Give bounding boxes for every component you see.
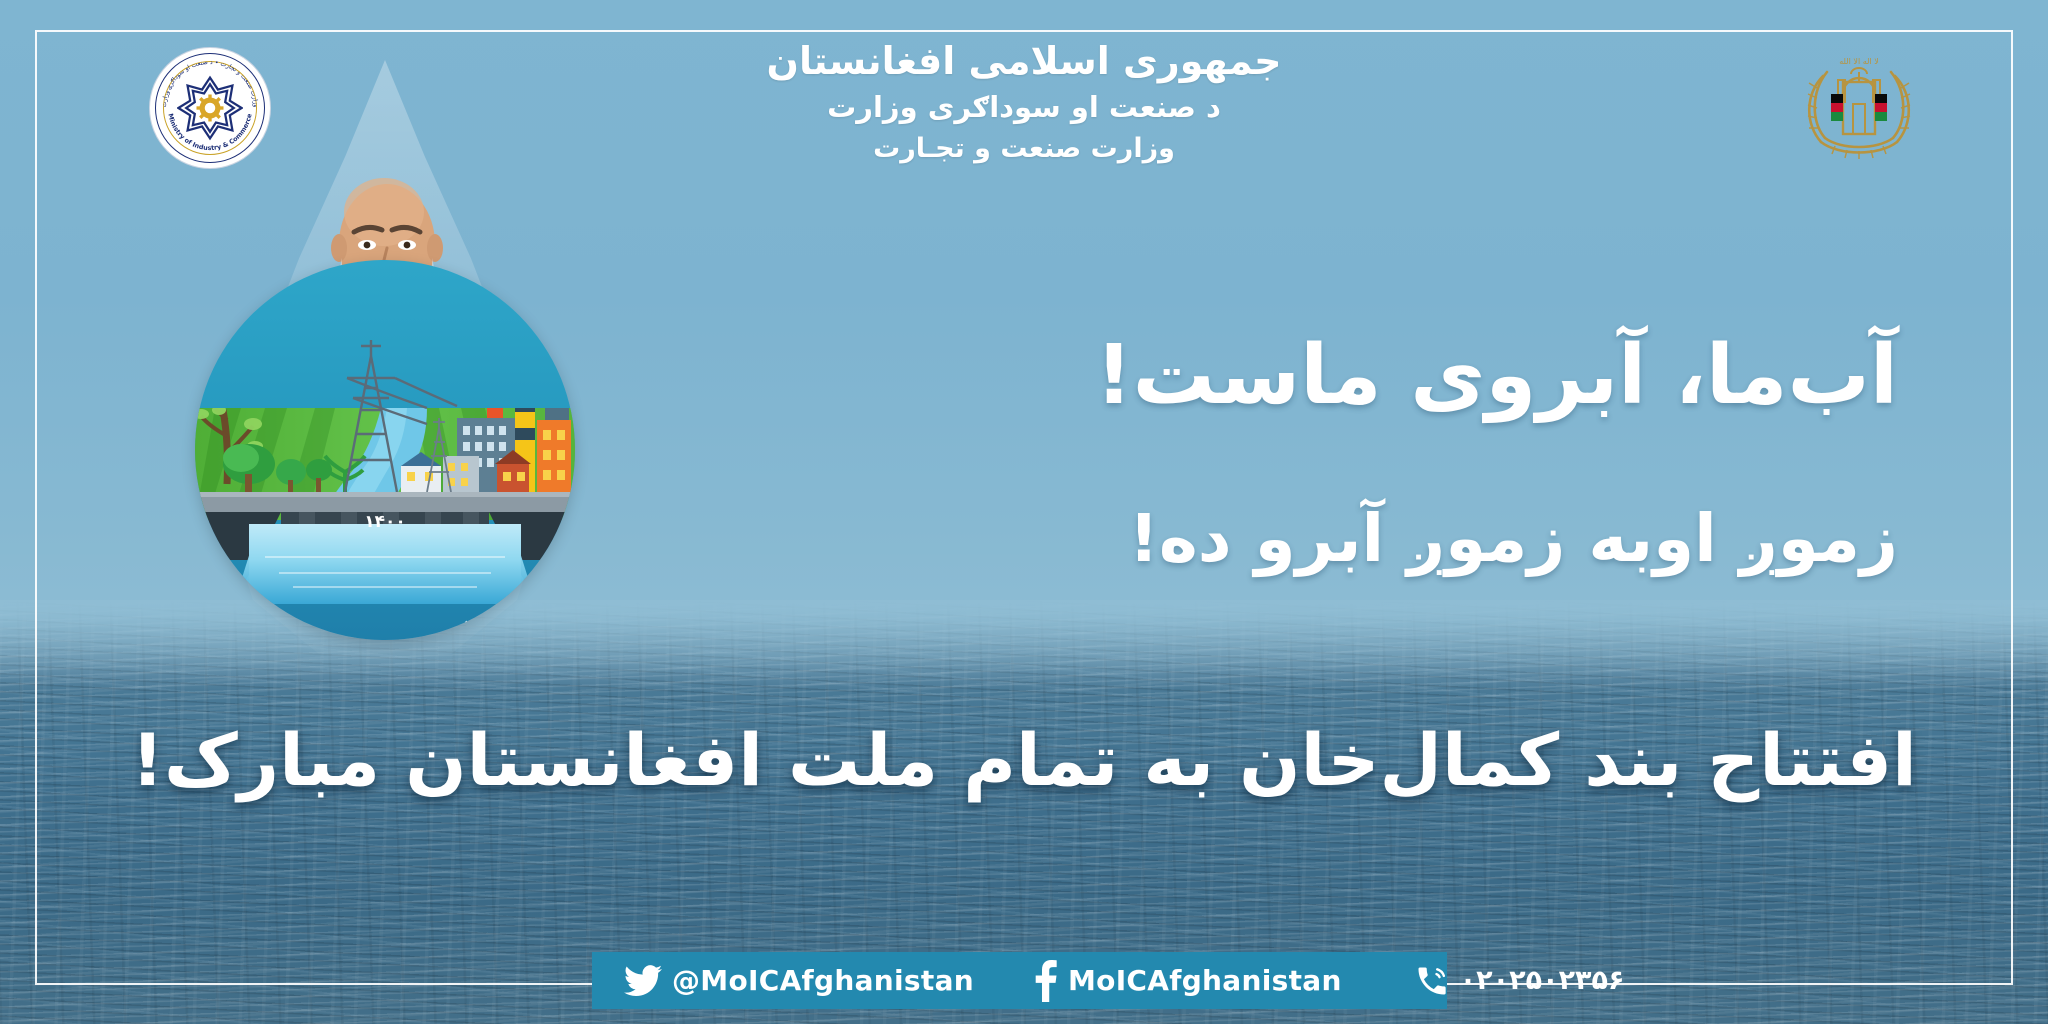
slogan-dari: آب‌ما، آبروی ماست!: [1095, 328, 1898, 423]
facebook-icon: [1034, 960, 1058, 1002]
poster-canvas: وزارت صنعت و تجارت • د صنعت او سوداګرۍ و…: [0, 0, 2048, 1024]
slogan-pashto: زموږ اوبه زموږ آبرو ده!: [1129, 500, 1898, 577]
twitter-handle-label: @MoICAfghanistan: [672, 964, 974, 997]
water-droplet-graphic: ۱۴۰۰ کمال خان: [195, 60, 575, 660]
facebook-handle-item[interactable]: MoICAfghanistan: [1034, 960, 1342, 1002]
facebook-handle-label: MoICAfghanistan: [1068, 964, 1342, 997]
social-footer-bar: @MoICAfghanistan MoICAfghanistan ۰۲۰۲۵۰۲…: [592, 952, 1447, 1009]
badge-dam-name: کمال خان: [195, 522, 575, 640]
headline-congratulation: افتتاح بند کمال‌خان به تمام ملت افغانستا…: [0, 718, 2048, 802]
phone-number-label: ۰۲۰۲۵۰۲۳۵۶: [1460, 965, 1625, 996]
phone-number-item[interactable]: ۰۲۰۲۵۰۲۳۵۶: [1414, 963, 1625, 999]
phone-icon: [1414, 963, 1450, 999]
svg-text:کمال خان: کمال خان: [277, 614, 493, 640]
twitter-icon: [624, 965, 662, 997]
twitter-handle-item[interactable]: @MoICAfghanistan: [624, 964, 974, 997]
kamal-khan-dam-badge: ۱۴۰۰ کمال خان: [195, 260, 575, 640]
